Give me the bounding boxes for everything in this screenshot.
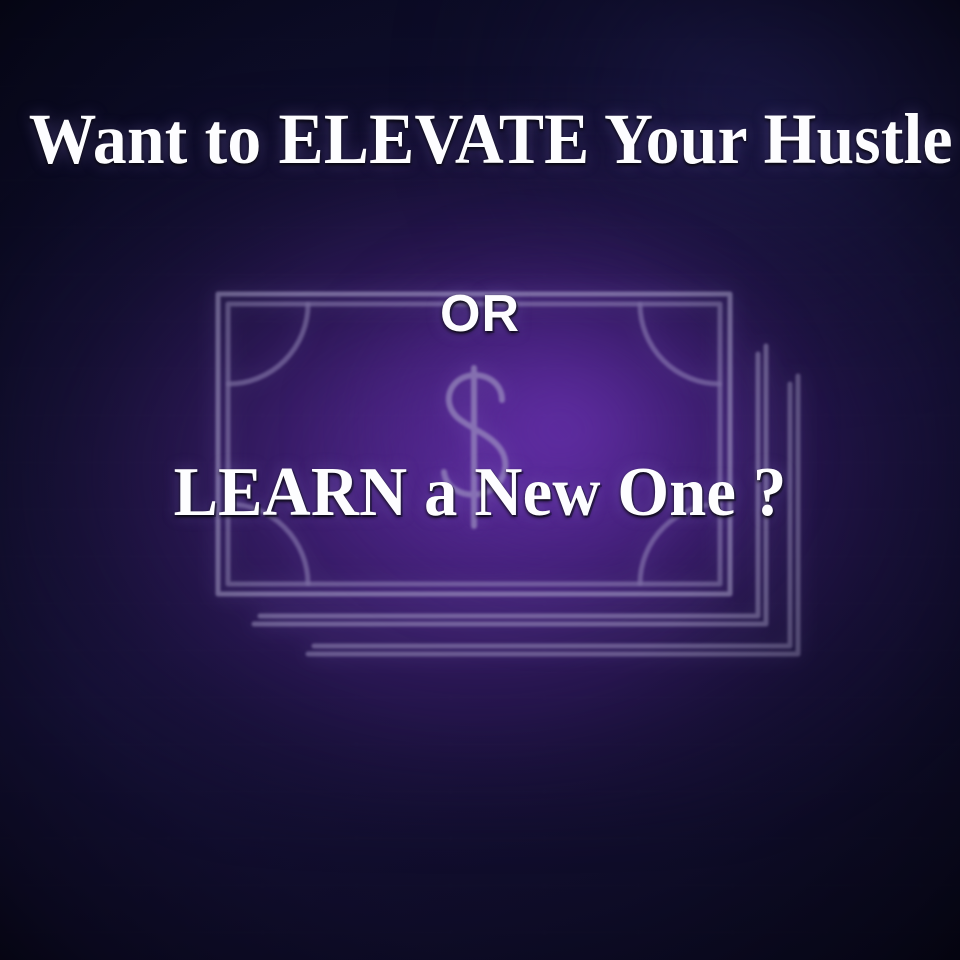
headline-line-2: LEARN a New One ? [24,455,936,531]
headline-text-layer: Want to ELEVATE Your Hustle OR LEARN a N… [0,0,960,960]
promo-slide: Want to ELEVATE Your Hustle OR LEARN a N… [0,0,960,960]
headline-connector-or: OR [0,285,960,343]
headline-line-1: Want to ELEVATE Your Hustle [29,100,931,178]
